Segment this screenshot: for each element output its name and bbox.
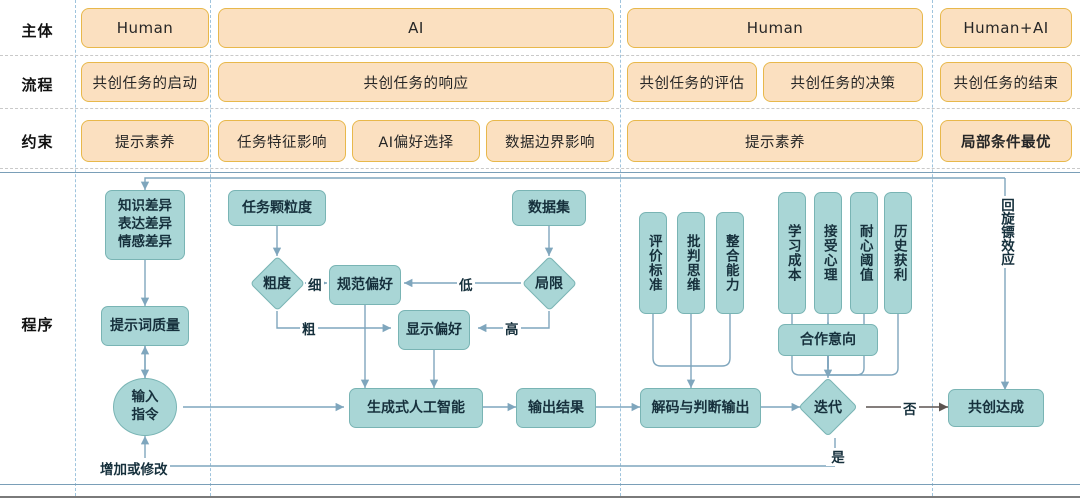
diagram-canvas: 主体 流程 约束 程序 Human AI Human Human+AI 共创任务… — [0, 0, 1080, 498]
node-historical-gain[interactable]: 历史获利 — [884, 192, 912, 314]
node-input-command[interactable]: 输入 指令 — [113, 378, 177, 436]
node-output-result[interactable]: 输出结果 — [516, 388, 596, 428]
edge-label-yes: 是 — [826, 448, 846, 466]
node-input-command-line1: 输入 — [132, 389, 159, 407]
node-input-command-line2: 指令 — [132, 407, 159, 425]
node-norm-preference[interactable]: 规范偏好 — [329, 265, 401, 305]
node-decode-judge[interactable]: 解码与判断输出 — [640, 388, 761, 428]
node-dataset[interactable]: 数据集 — [512, 190, 586, 226]
node-critical-thinking[interactable]: 批判思维 — [677, 212, 705, 314]
node-learning-cost[interactable]: 学习成本 — [778, 192, 806, 314]
node-cooperation-intent[interactable]: 合作意向 — [778, 324, 878, 356]
node-differences[interactable]: 知识差异 表达差异 情感差异 — [105, 190, 185, 260]
node-differences-line3: 情感差异 — [118, 234, 172, 252]
node-task-granularity[interactable]: 任务颗粒度 — [228, 190, 326, 226]
node-display-preference[interactable]: 显示偏好 — [398, 310, 470, 350]
node-patience-threshold[interactable]: 耐心阈值 — [850, 192, 878, 314]
label-boomerang-effect: 回旋镖效应 — [996, 196, 1016, 268]
edge-label-fine: 细 — [306, 274, 324, 294]
node-acceptance-psych[interactable]: 接受心理 — [814, 192, 842, 314]
node-co-creation-done[interactable]: 共创达成 — [948, 389, 1044, 427]
node-prompt-quality[interactable]: 提示词质量 — [101, 306, 189, 346]
node-eval-criteria[interactable]: 评价标准 — [639, 212, 667, 314]
edge-label-coarse: 粗 — [300, 318, 318, 338]
edge-label-high: 高 — [503, 318, 521, 338]
node-differences-line1: 知识差异 — [118, 198, 172, 216]
node-differences-line2: 表达差异 — [118, 216, 172, 234]
edge-label-add-or-modify: 增加或修改 — [98, 458, 170, 478]
node-genai[interactable]: 生成式人工智能 — [349, 388, 483, 428]
edge-label-low: 低 — [457, 274, 475, 294]
edge-label-no: 否 — [901, 398, 919, 418]
node-integration-ability[interactable]: 整合能力 — [716, 212, 744, 314]
